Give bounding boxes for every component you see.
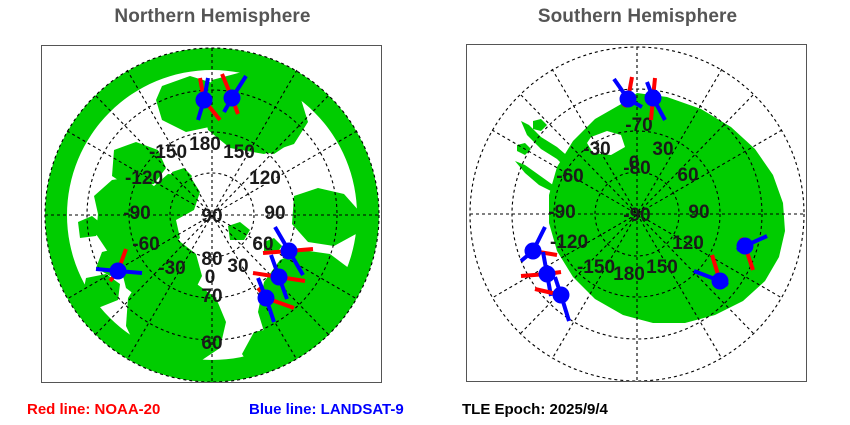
- north-lon-label-150: 150: [223, 142, 255, 163]
- southern-hemisphere-plot-frame: -90 -80 -70 0 30 60 90 120 150 180 -150 …: [466, 44, 807, 382]
- legend-tle-epoch: TLE Epoch: 2025/9/4: [462, 401, 608, 418]
- south-lat-label-neg70: -70: [625, 115, 652, 136]
- southern-hemisphere-map: -90 -80 -70 0 30 60 90 120 150 180 -150 …: [467, 45, 807, 382]
- north-lon-label-0: 0: [205, 267, 216, 288]
- north-lon-label-neg90: -90: [123, 203, 150, 224]
- north-lon-label-neg30: -30: [158, 258, 185, 279]
- north-lon-label-90: 90: [264, 203, 285, 224]
- north-lat-label-60: 60: [201, 333, 222, 354]
- south-lon-label-30: 30: [652, 139, 673, 160]
- northern-hemisphere-panel: Northern Hemisphere: [0, 0, 425, 425]
- legend-red-line-noaa20: Red line: NOAA-20: [27, 401, 160, 418]
- south-lon-label-neg120: -120: [550, 232, 588, 253]
- south-lon-label-90: 90: [688, 202, 709, 223]
- north-lon-label-180: 180: [189, 134, 221, 155]
- south-lon-label-neg60: -60: [556, 166, 583, 187]
- northern-hemisphere-title: Northern Hemisphere: [0, 6, 425, 28]
- north-lat-label-90: 90: [201, 206, 222, 227]
- north-lon-label-120: 120: [249, 168, 281, 189]
- south-lat-label-neg90: -90: [623, 205, 650, 226]
- north-lon-label-neg60: -60: [132, 234, 159, 255]
- south-lon-label-120: 120: [672, 233, 704, 254]
- legend-blue-line-landsat9: Blue line: LANDSAT-9: [249, 401, 404, 418]
- south-lon-label-neg90: -90: [548, 202, 575, 223]
- northern-hemisphere-map: 90 80 70 60 0 30 60 90 120 150 180 -150 …: [42, 46, 382, 383]
- south-lon-label-neg30: -30: [583, 139, 610, 160]
- southern-hemisphere-panel: Southern Hemisphere: [425, 0, 850, 425]
- north-lon-label-neg150: -150: [149, 142, 187, 163]
- north-lon-label-30: 30: [227, 256, 248, 277]
- south-lon-label-180: 180: [613, 264, 645, 285]
- northern-hemisphere-plot-frame: 90 80 70 60 0 30 60 90 120 150 180 -150 …: [41, 45, 382, 383]
- south-lon-label-150: 150: [646, 257, 678, 278]
- southern-hemisphere-title: Southern Hemisphere: [425, 6, 850, 28]
- south-lon-label-0: 0: [629, 153, 640, 174]
- south-lon-label-60: 60: [677, 165, 698, 186]
- south-lon-label-neg150: -150: [577, 257, 615, 278]
- north-lon-label-neg120: -120: [125, 168, 163, 189]
- satellite-ground-track-figure: Northern Hemisphere: [0, 0, 850, 425]
- north-lat-label-70: 70: [201, 286, 222, 307]
